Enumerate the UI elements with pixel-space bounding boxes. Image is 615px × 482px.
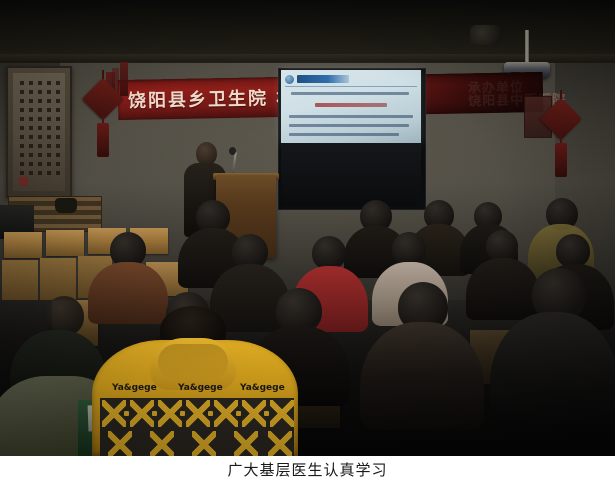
slide-bullet-icon [285,75,294,84]
hoodie-brand-text: Ya&gege [112,383,157,393]
band-x-motif [108,431,132,456]
ceiling [0,0,615,62]
band-dot [208,411,213,416]
calligraphy-column [38,81,42,175]
band-dot [152,411,157,416]
audience-head [312,236,346,270]
wooden-chair [2,260,38,300]
slide-line-2 [289,115,413,118]
audience-head [392,232,426,266]
meeting-photograph: 饶阳县乡卫生院 村 承办单位饶阳县中医医院 [0,0,615,456]
band-dot [180,411,185,416]
banner-main-text: 饶阳县乡卫生院 村 [128,84,297,113]
caption-text: 广大基层医生认真学习 [227,459,387,480]
band-x-motif [150,431,174,456]
band-dot [236,411,241,416]
band-x-motif [242,400,266,427]
wooden-chair [40,258,76,300]
audience-body-leather [360,322,484,430]
knot-tassel [555,143,567,177]
slide-line-4 [289,133,399,136]
band-dot [124,411,129,416]
screen-lower-dark [281,143,421,206]
photo-page: 饶阳县乡卫生院 村 承办单位饶阳县中医医院 [0,0,615,482]
audience-body [490,312,615,430]
knot-tassel [97,123,109,157]
microphone-head [229,147,236,155]
band-x-motif [214,400,238,427]
band-x-motif [192,431,216,456]
calligraphy-seal [19,177,28,186]
wall-strip [120,62,128,96]
calligraphy-column [20,81,24,175]
band-x-motif [130,400,154,427]
calligraphy-frame-left [6,66,72,198]
hoodie-brand-text: Ya&gege [178,383,223,393]
hoodie-brand-text: Ya&gege [240,383,285,393]
calligraphy-column [56,81,60,175]
audience-body [466,258,540,320]
band-x-motif [158,400,182,427]
calligraphy-column [47,81,51,175]
slide-line-1 [291,92,409,95]
slide-highlight-line [315,103,387,107]
band-x-motif [270,400,294,427]
projection-screen [281,70,421,143]
projector-mount-pole [525,30,529,66]
band-x-motif [102,400,126,427]
wooden-chair [46,230,84,256]
ceiling-vent [470,25,500,45]
hood-shadow [158,344,228,380]
wooden-chair [4,232,42,258]
kettle [55,198,77,213]
hoodie-pattern-band [100,398,294,429]
band-x-motif [186,400,210,427]
audience-head [556,234,590,268]
slide-line-3 [289,124,409,127]
calligraphy-column [29,81,33,175]
slide-title-bar [297,75,349,83]
band-x-motif [234,431,258,456]
band-dot [264,411,269,416]
slide-divider [285,86,417,87]
band-x-motif [268,431,292,456]
photo-caption: 广大基层医生认真学习 [0,456,615,482]
calligraphy-paper [13,73,65,191]
audience-body-brown-leather [88,262,168,324]
